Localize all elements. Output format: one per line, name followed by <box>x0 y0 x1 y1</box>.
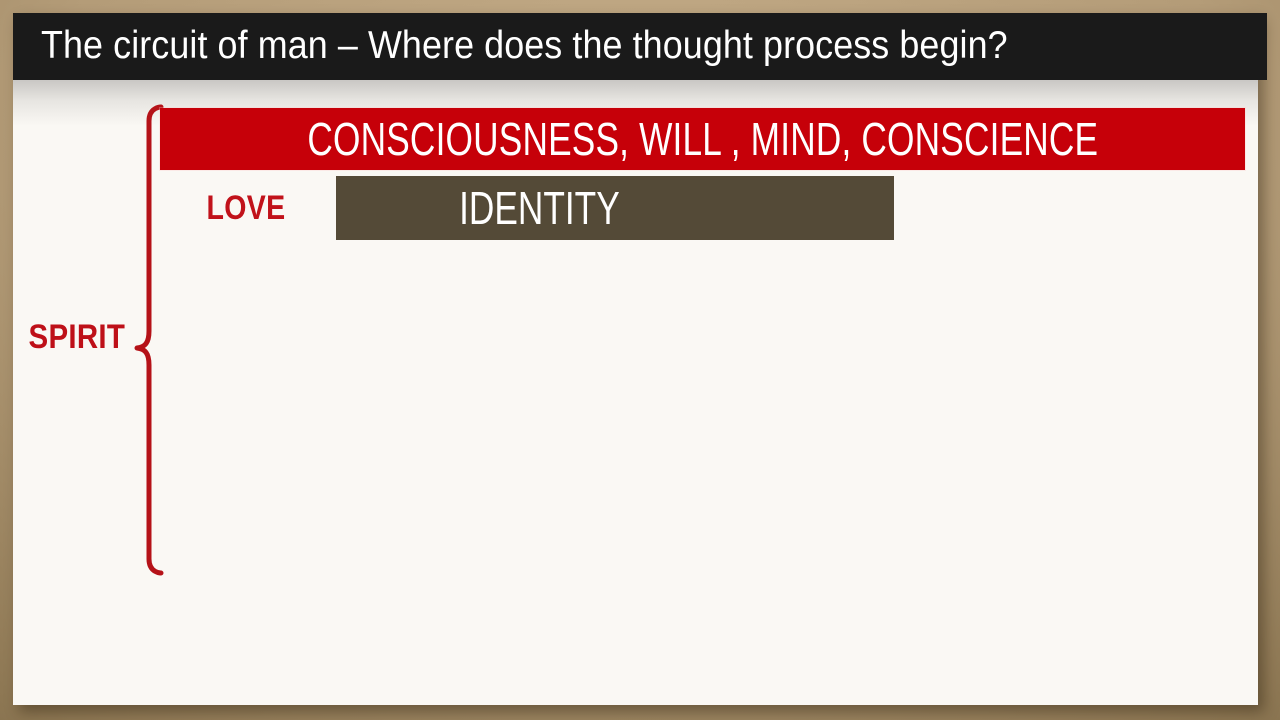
slide-page: The circuit of man – Where does the thou… <box>13 13 1258 705</box>
love-label: LOVE <box>206 188 285 228</box>
slide-title-bar: The circuit of man – Where does the thou… <box>13 13 1267 80</box>
consciousness-banner: CONSCIOUSNESS, WILL , MIND, CONSCIENCE <box>160 108 1245 170</box>
page-title: The circuit of man – Where does the thou… <box>41 24 1008 68</box>
identity-box-label: IDENTITY <box>459 181 620 235</box>
presentation-canvas: The circuit of man – Where does the thou… <box>0 0 1280 720</box>
spirit-label: SPIRIT <box>29 317 126 357</box>
curly-brace-icon <box>123 103 183 593</box>
consciousness-banner-label: CONSCIOUSNESS, WILL , MIND, CONSCIENCE <box>307 112 1098 166</box>
identity-box: IDENTITY <box>336 176 894 240</box>
